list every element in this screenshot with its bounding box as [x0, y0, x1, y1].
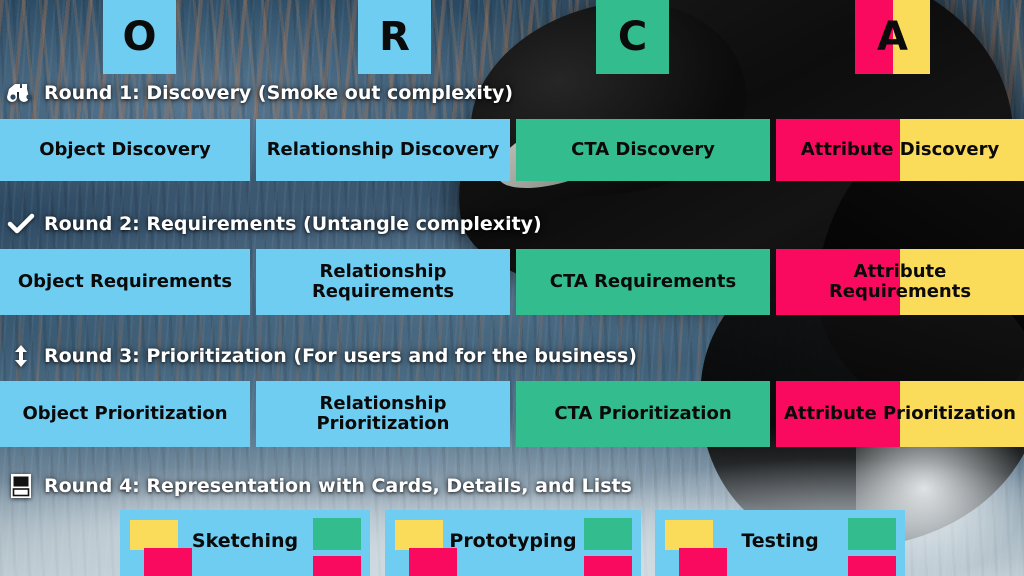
bar-attribute-discovery[interactable]: Attribute Discovery — [776, 119, 1024, 181]
swatch-pink — [313, 556, 361, 576]
card-prototyping[interactable]: Prototyping — [385, 510, 641, 576]
acronym-letter-c-glyph: C — [618, 17, 647, 57]
swatch-pink — [584, 556, 632, 576]
bar-cta-discovery-label: CTA Discovery — [522, 140, 764, 160]
swatch-pink — [848, 556, 896, 576]
card-testing[interactable]: Testing — [655, 510, 905, 576]
acronym-letter-o-glyph: O — [122, 17, 156, 57]
bar-attribute-requirements-label: Attribute Requirements — [782, 262, 1018, 302]
bar-relationship-prioritization[interactable]: Relationship Prioritization — [256, 381, 510, 447]
swatch-pink — [409, 548, 457, 576]
bar-relationship-discovery-label: Relationship Discovery — [262, 140, 504, 160]
bar-object-discovery-label: Object Discovery — [6, 140, 244, 160]
bar-relationship-requirements[interactable]: Relationship Requirements — [256, 249, 510, 315]
bar-object-prioritization[interactable]: Object Prioritization — [0, 381, 250, 447]
acronym-letter-a-glyph: A — [877, 17, 908, 57]
round-4-heading: Round 4: Representation with Cards, Deta… — [6, 473, 632, 499]
bar-attribute-prioritization-label: Attribute Prioritization — [782, 404, 1018, 424]
check-icon — [6, 211, 36, 237]
round-1-heading-text: Round 1: Discovery (Smoke out complexity… — [44, 82, 513, 104]
bar-cta-requirements-label: CTA Requirements — [522, 272, 764, 292]
acronym-letter-o: O — [103, 0, 176, 74]
bar-attribute-discovery-label: Attribute Discovery — [782, 140, 1018, 160]
card-prototyping-label: Prototyping — [385, 530, 641, 552]
swatch-pink — [679, 548, 727, 576]
bar-cta-discovery[interactable]: CTA Discovery — [516, 119, 770, 181]
bar-object-prioritization-label: Object Prioritization — [6, 404, 244, 424]
round-3-heading-text: Round 3: Prioritization (For users and f… — [44, 345, 637, 367]
card-layout-icon — [6, 473, 36, 499]
bar-attribute-prioritization[interactable]: Attribute Prioritization — [776, 381, 1024, 447]
binoculars-icon — [6, 80, 36, 106]
orca-framework-slide: O R C A Round 1: Discovery (Smoke out co… — [0, 0, 1024, 576]
card-sketching-label: Sketching — [120, 530, 370, 552]
bar-object-requirements-label: Object Requirements — [6, 272, 244, 292]
acronym-letter-a: A — [855, 0, 930, 74]
bar-relationship-prioritization-label: Relationship Prioritization — [262, 394, 504, 434]
round-2-heading: Round 2: Requirements (Untangle complexi… — [6, 211, 542, 237]
card-sketching[interactable]: Sketching — [120, 510, 370, 576]
acronym-letter-c: C — [596, 0, 669, 74]
bar-object-discovery[interactable]: Object Discovery — [0, 119, 250, 181]
bar-attribute-requirements[interactable]: Attribute Requirements — [776, 249, 1024, 315]
round-2-heading-text: Round 2: Requirements (Untangle complexi… — [44, 213, 542, 235]
bar-cta-requirements[interactable]: CTA Requirements — [516, 249, 770, 315]
round-3-heading: Round 3: Prioritization (For users and f… — [6, 343, 637, 369]
swatch-pink — [144, 548, 192, 576]
round-2-bars: Object Requirements Relationship Require… — [0, 249, 1024, 315]
round-1-bars: Object Discovery Relationship Discovery … — [0, 119, 1024, 181]
bar-cta-prioritization-label: CTA Prioritization — [522, 404, 764, 424]
acronym-row: O R C A — [0, 0, 1024, 74]
round-3-bars: Object Prioritization Relationship Prior… — [0, 381, 1024, 447]
card-testing-label: Testing — [655, 530, 905, 552]
up-down-arrow-icon — [6, 343, 36, 369]
acronym-letter-r: R — [358, 0, 431, 74]
bar-cta-prioritization[interactable]: CTA Prioritization — [516, 381, 770, 447]
bar-object-requirements[interactable]: Object Requirements — [0, 249, 250, 315]
bar-relationship-discovery[interactable]: Relationship Discovery — [256, 119, 510, 181]
round-1-heading: Round 1: Discovery (Smoke out complexity… — [6, 80, 513, 106]
acronym-letter-r-glyph: R — [379, 17, 410, 57]
round-4-heading-text: Round 4: Representation with Cards, Deta… — [44, 475, 632, 497]
bar-relationship-requirements-label: Relationship Requirements — [262, 262, 504, 302]
